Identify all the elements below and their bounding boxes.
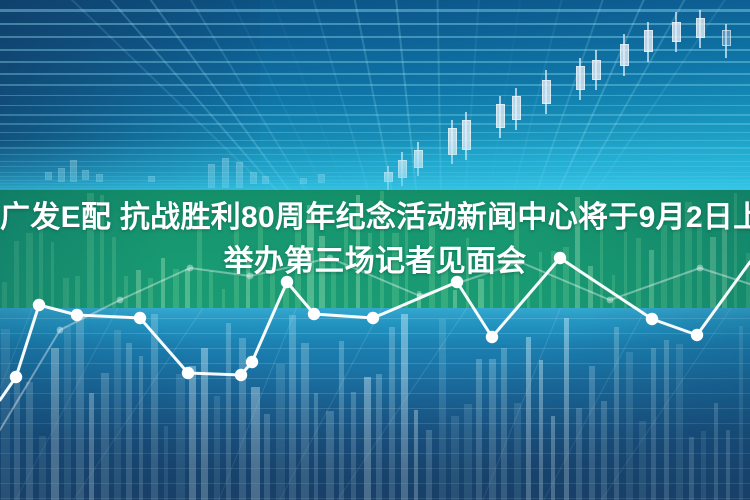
line-marker [486, 331, 498, 343]
line-marker [691, 329, 703, 341]
line-marker [367, 312, 379, 324]
banner-image: 广发E配 抗战胜利80周年纪念活动新闻中心将于9月2日上午 举办第三场记者见面会 [0, 0, 750, 500]
line-marker [182, 367, 194, 379]
title-line-1: 广发E配 抗战胜利80周年纪念活动新闻中心将于9月2日上午 [0, 196, 750, 240]
line-marker [71, 309, 83, 321]
line-marker [10, 371, 22, 383]
line-marker [33, 299, 45, 311]
line-marker [235, 369, 247, 381]
line-marker [646, 313, 658, 325]
background-line-marker [57, 327, 64, 334]
background-line-marker [607, 297, 614, 304]
title-line-2: 举办第三场记者见面会 [0, 240, 750, 284]
line-marker [246, 356, 258, 368]
banner-title: 广发E配 抗战胜利80周年纪念活动新闻中心将于9月2日上午 举办第三场记者见面会 [0, 196, 750, 284]
background-line-marker [117, 297, 124, 304]
line-marker [308, 308, 320, 320]
line-marker [134, 312, 146, 324]
background-line-marker [417, 293, 424, 300]
